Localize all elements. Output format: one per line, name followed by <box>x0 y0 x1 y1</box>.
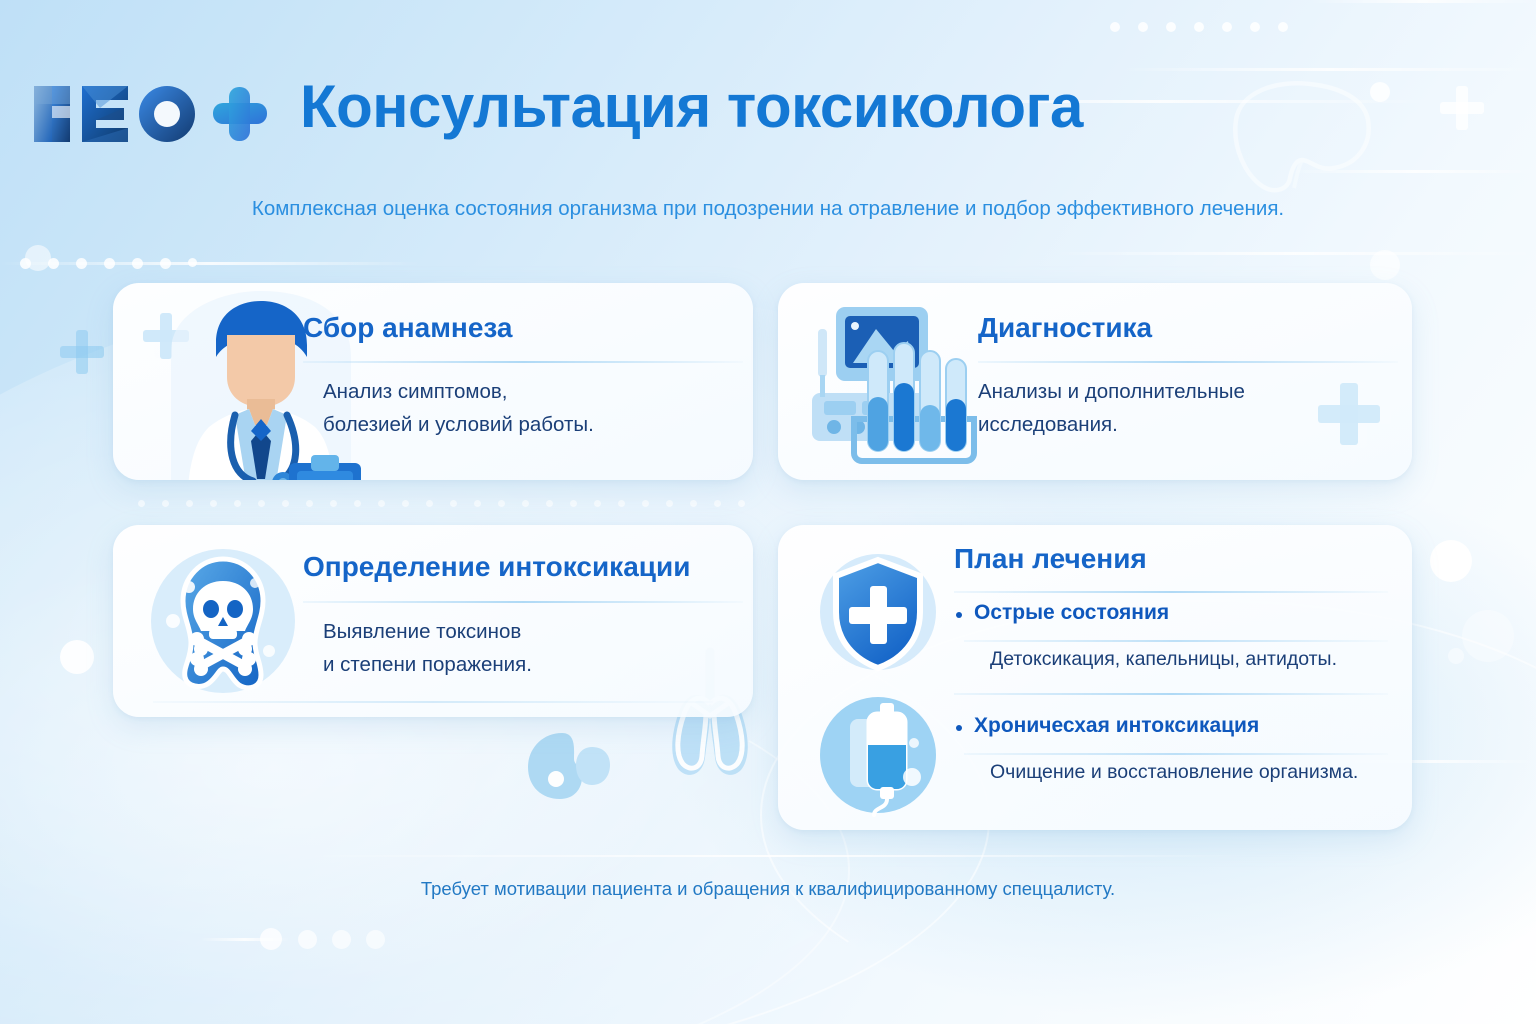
page-header: Консультация токсиколога Комплексная оце… <box>0 0 1536 180</box>
card-body-line: и степени поражения. <box>323 648 743 681</box>
card-divider <box>303 601 743 603</box>
card-divider <box>964 640 1388 642</box>
card-title: Сбор анамнеза <box>303 312 513 344</box>
card-body-line: Анализ симптомов, <box>323 375 743 408</box>
brand-logo <box>30 78 270 150</box>
bg-dot <box>162 500 169 507</box>
bg-dot <box>210 500 217 507</box>
bg-dot <box>260 928 282 950</box>
card-body-line: болезией и условий работы. <box>323 408 743 441</box>
subitem-label: Хроничесхая интоксикация <box>974 714 1259 738</box>
card-history-taking[interactable]: Сбор анамнеза Анализ симптомов, болезией… <box>113 283 753 480</box>
bg-dot <box>402 500 409 507</box>
page-title: Консультация токсиколога <box>300 72 1083 141</box>
footer-divider <box>290 855 1250 857</box>
bg-dot <box>378 500 385 507</box>
card-treatment-plan[interactable]: План лечения Острые состояния Детоксикац… <box>778 525 1412 830</box>
bg-dot <box>426 500 433 507</box>
bg-dot <box>104 258 115 269</box>
bg-dot <box>714 500 721 507</box>
bg-dot <box>522 500 529 507</box>
bg-circle <box>1448 648 1464 664</box>
bg-dot <box>332 930 351 949</box>
bg-circle <box>25 245 51 271</box>
card-divider <box>153 701 713 703</box>
bg-dot <box>642 500 649 507</box>
card-title: Определение интоксикации <box>303 551 690 583</box>
bg-dot <box>690 500 697 507</box>
bg-dot <box>666 500 673 507</box>
bg-dot <box>138 500 145 507</box>
footer-note: Требует мотивации пациента и обращения к… <box>0 878 1536 900</box>
plus-cross-icon <box>60 330 104 374</box>
card-divider <box>978 361 1398 363</box>
bg-circle <box>60 640 94 674</box>
card-body-line: Анализы и дополнительные <box>978 375 1398 408</box>
bg-dot <box>546 500 553 507</box>
bg-dot <box>48 258 59 269</box>
bg-dot <box>450 500 457 507</box>
card-divider <box>954 693 1388 695</box>
card-title: Диагностика <box>978 312 1152 344</box>
bg-dot <box>282 500 289 507</box>
toxic-skull-icon <box>143 543 303 703</box>
bg-dot <box>330 500 337 507</box>
kidney-icon <box>520 725 630 805</box>
bg-line-7 <box>200 938 290 941</box>
bg-dot <box>738 500 745 507</box>
card-intoxication-detection[interactable]: Определение интоксикации Выявление токси… <box>113 525 753 717</box>
bg-circle <box>1462 610 1514 662</box>
card-title: План лечения <box>954 543 1147 575</box>
bullet-point <box>956 725 962 731</box>
bg-dot <box>188 258 197 267</box>
bg-circle <box>1370 250 1400 280</box>
bg-dot <box>258 500 265 507</box>
card-divider <box>303 361 743 363</box>
bg-dot <box>618 500 625 507</box>
bg-dot <box>498 500 505 507</box>
shield-cross-icon <box>816 550 941 675</box>
bg-dot <box>354 500 361 507</box>
bg-dot <box>594 500 601 507</box>
subitem-desc: Детоксикация, капельницы, антидоты. <box>990 648 1337 671</box>
card-body-line: Выявление токсинов <box>323 615 743 648</box>
bg-dot <box>132 258 143 269</box>
bullet-point <box>956 612 962 618</box>
subitem-desc: Очищение и восстановление организма. <box>990 761 1358 784</box>
page-subtitle: Комплексная оценка состояния организма п… <box>0 197 1536 221</box>
card-divider <box>954 591 1388 593</box>
bg-dot <box>474 500 481 507</box>
bg-dot <box>570 500 577 507</box>
lab-diagnostics-icon <box>798 301 988 466</box>
card-body-line: исследования. <box>978 408 1398 441</box>
bg-dot <box>298 930 317 949</box>
card-diagnostics[interactable]: Диагностика Анализы и дополнительные исс… <box>778 283 1412 480</box>
bg-dot <box>76 258 87 269</box>
bg-dot <box>20 258 31 269</box>
bg-dot <box>234 500 241 507</box>
bg-dot <box>306 500 313 507</box>
bg-dot <box>160 258 171 269</box>
bg-line-6 <box>0 262 420 265</box>
card-divider <box>964 753 1388 755</box>
bg-circle <box>1430 540 1472 582</box>
bg-dot <box>366 930 385 949</box>
subitem-label: Острые состояния <box>974 601 1169 625</box>
iv-drip-icon <box>816 693 941 818</box>
bg-dot <box>186 500 193 507</box>
bg-line-4 <box>1050 252 1536 255</box>
